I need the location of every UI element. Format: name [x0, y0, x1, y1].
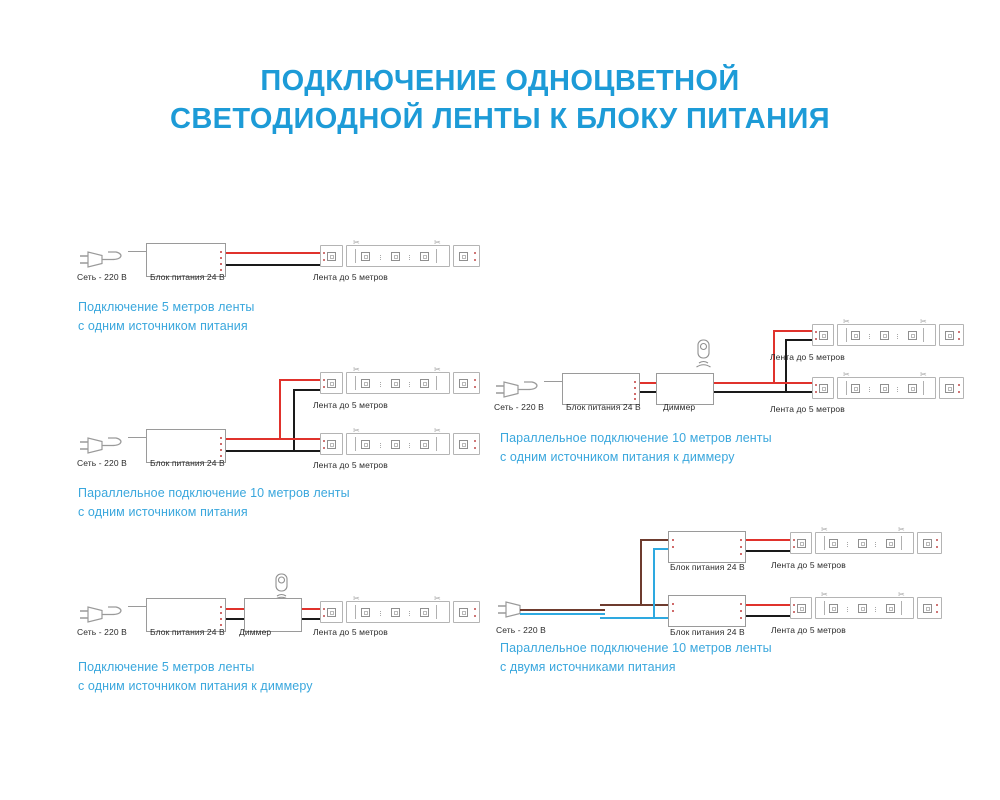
led-strip: ✂ ✂	[790, 597, 942, 619]
cut-mark-icon: ✂	[434, 427, 441, 435]
dimmer-label: Диммер	[239, 627, 271, 637]
led-strip: ✂ ✂	[320, 245, 480, 267]
led-strip: ✂ ✂	[320, 372, 480, 394]
psu-label: Блок питания 24 В	[150, 272, 225, 282]
mains-wire	[128, 606, 146, 607]
wire-negative-out	[714, 391, 786, 393]
mains-wire	[128, 437, 146, 438]
cut-mark-icon: ✂	[353, 427, 360, 435]
mains-label: Сеть - 220 В	[77, 458, 127, 468]
strip-label: Лента до 5 метров	[770, 352, 845, 362]
power-supply-box	[668, 595, 746, 627]
power-supply-box	[668, 531, 746, 563]
strip-label: Лента до 5 метров	[313, 400, 388, 410]
wire-negative	[226, 618, 244, 620]
strip-label: Лента до 5 метров	[770, 404, 845, 414]
psu-label: Блок питания 24 В	[150, 627, 225, 637]
cut-mark-icon: ✂	[353, 595, 360, 603]
psu-label: Блок питания 24 В	[150, 458, 225, 468]
power-supply-box	[562, 373, 640, 405]
cut-mark-icon: ✂	[843, 371, 850, 379]
cut-mark-icon: ✂	[898, 526, 905, 534]
led-strip: ✂ ✂	[790, 532, 942, 554]
cut-mark-icon: ✂	[843, 318, 850, 326]
cut-mark-icon: ✂	[434, 239, 441, 247]
strip-label: Лента до 5 метров	[771, 625, 846, 635]
cut-mark-icon: ✂	[353, 366, 360, 374]
mains-label: Сеть - 220 В	[496, 625, 546, 635]
diagram-caption: Подключение 5 метров ленты с одним источ…	[78, 298, 478, 337]
diagram-caption: Параллельное подключение 10 метров ленты…	[500, 429, 940, 468]
psu-label: Блок питания 24 В	[670, 627, 745, 637]
wire-live	[520, 609, 605, 611]
strip-label: Лента до 5 метров	[313, 627, 388, 637]
cut-mark-icon: ✂	[898, 591, 905, 599]
led-strip: ✂ ✂	[812, 377, 964, 399]
wire-positive	[226, 438, 280, 440]
wire-neutral	[520, 613, 605, 615]
cut-mark-icon: ✂	[920, 371, 927, 379]
mains-label: Сеть - 220 В	[77, 627, 127, 637]
mains-label: Сеть - 220 В	[77, 272, 127, 282]
cut-mark-icon: ✂	[920, 318, 927, 326]
cut-mark-icon: ✂	[353, 239, 360, 247]
mains-wire	[544, 381, 562, 382]
strip-label: Лента до 5 метров	[313, 460, 388, 470]
led-strip: ✂ ✂	[320, 433, 480, 455]
wire-live-riser	[640, 539, 642, 605]
cut-mark-icon: ✂	[821, 526, 828, 534]
dimmer-label: Диммер	[663, 402, 695, 412]
strip-label: Лента до 5 метров	[313, 272, 388, 282]
cut-mark-icon: ✂	[434, 595, 441, 603]
mains-wire	[128, 251, 146, 252]
dimmer-box	[656, 373, 714, 405]
cut-mark-icon: ✂	[434, 366, 441, 374]
wire-negative-riser	[293, 389, 295, 451]
wire-neutral-riser	[653, 548, 655, 618]
wire-negative	[226, 264, 326, 266]
led-strip: ✂ ✂	[320, 601, 480, 623]
diagram-parallel-10m-two-psu: Сеть - 220 В Блок питания 24 В	[0, 0, 500, 170]
wire-positive	[640, 382, 656, 384]
wire-positive-out	[714, 382, 774, 384]
cut-mark-icon: ✂	[821, 591, 828, 599]
led-strip: ✂ ✂	[812, 324, 964, 346]
strip-label: Лента до 5 метров	[771, 560, 846, 570]
diagram-caption: Параллельное подключение 10 метров ленты…	[500, 639, 940, 678]
wire-positive	[746, 539, 796, 541]
wire-positive-riser	[279, 379, 281, 439]
psu-label: Блок питания 24 В	[566, 402, 641, 412]
wire-positive	[226, 608, 244, 610]
diagram-caption: Параллельное подключение 10 метров ленты…	[78, 484, 498, 523]
wire-positive-top	[773, 330, 817, 332]
mains-label: Сеть - 220 В	[494, 402, 544, 412]
wire-negative	[640, 391, 656, 393]
wire-negative	[226, 450, 294, 452]
wire-positive	[226, 252, 326, 254]
wire-positive-branch	[773, 382, 817, 384]
wire-negative	[746, 615, 796, 617]
wire-negative-riser	[785, 339, 787, 392]
psu-label: Блок питания 24 В	[670, 562, 745, 572]
diagram-caption: Подключение 5 метров ленты с одним источ…	[78, 658, 498, 697]
wire-negative	[746, 550, 796, 552]
wire-positive	[746, 604, 796, 606]
